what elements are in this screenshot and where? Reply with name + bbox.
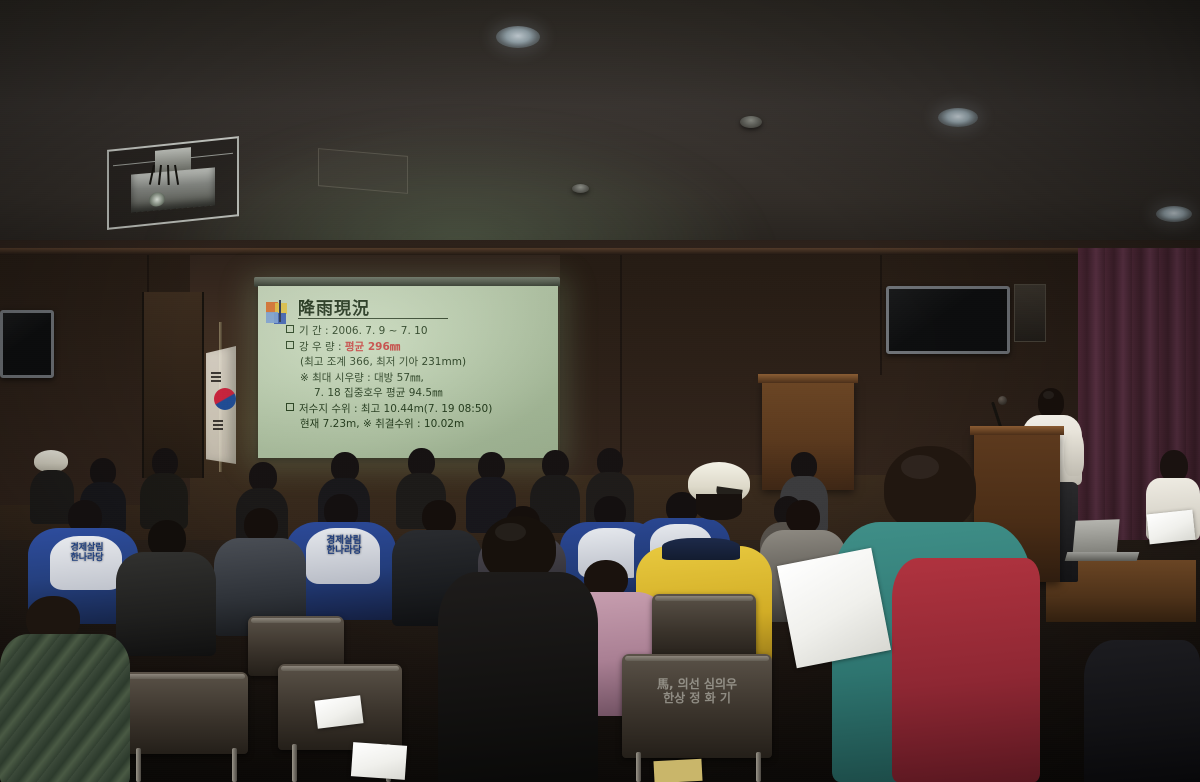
wall-trim [0,248,1200,255]
wall-seam [880,255,882,375]
slide-line: (최고 조계 366, 최저 기아 231mm) [286,355,548,371]
wall-tv-right [886,286,1010,354]
chair-rim [251,618,341,623]
projector-cables [153,165,203,187]
slide-line: 강 우 량 : 평균 296㎜ [286,340,548,356]
party-jacket-back-panel [306,528,380,584]
slide-title: 降雨現況 [298,294,370,319]
taeguk-symbol-icon [214,388,236,410]
presentation-slide: 降雨現況 기 간 : 2006. 7. 9 ~ 7. 10 강 우 량 : 평균… [258,286,558,458]
slide-line: 기 간 : 2006. 7. 9 ~ 7. 10 [286,324,548,340]
foreground-attendee-right [1084,640,1200,782]
slide-line: 현재 7.23m, ※ 취결수위 : 10.02m [286,417,548,433]
slide-line: 저수지 수위 : 최고 10.44m(7. 19 08:50) [286,402,548,418]
chair-rim [125,674,245,679]
ceiling-speaker-icon [740,116,762,128]
ceiling-speaker-icon [572,184,589,193]
audience-head [244,508,278,542]
chair-rim [655,596,753,601]
papers-on-seat [314,695,363,728]
jacket-collar [662,538,740,560]
assistant-documents [1147,510,1196,545]
assistant-right [1146,450,1200,600]
lectern-top [758,374,858,383]
slide-logo-icon [266,302,292,326]
speaker-head [1038,388,1064,418]
photo-scene: 降雨現況 기 간 : 2006. 7. 9 ~ 7. 10 강 우 량 : 평균… [0,0,1200,782]
ceiling [0,0,1200,262]
foreground-attendee-center [438,516,598,782]
white-cap-icon [34,450,68,472]
foreground-attendee-vest [832,446,1032,782]
party-jacket-back-panel [50,536,122,590]
ceiling-projector [107,143,239,223]
trigram-icon [213,420,223,422]
chair-leg [136,748,141,782]
papers-on-seat [351,742,407,780]
black-shirt [438,572,598,782]
projector-lens-icon [149,192,165,207]
audience-head [884,446,976,532]
trigram-icon [211,372,221,374]
chair [122,672,248,754]
bullet-icon [286,403,294,411]
chair [652,594,756,660]
wall-tv-left [0,310,54,378]
slide-highlight: 평균 296㎜ [345,341,400,353]
chair-leg [232,748,237,782]
laptop-keyboard [1065,552,1140,561]
wall-speaker [1014,284,1046,342]
wall-seam [620,255,622,475]
trigram-icon [213,428,223,430]
downlight-icon [496,26,540,48]
south-korean-flag [198,332,244,468]
audience-member [214,508,306,630]
projection-screen: 降雨現況 기 간 : 2006. 7. 9 ~ 7. 10 강 우 량 : 평균… [258,286,558,458]
slide-title-underline [298,318,448,319]
chair-back-text: 馬, 의선 심의우 한상 정 화 기 [630,678,764,706]
bullet-icon [286,325,294,333]
patterned-shirt [0,634,130,782]
trigram-icon [211,376,221,378]
trigram-icon [211,380,221,382]
slide-line: ※ 최대 시우량 : 대방 57㎜, [286,371,548,387]
ceiling-access-panel [318,148,408,194]
chair-with-text: 馬, 의선 심의우 한상 정 화 기 [622,654,772,758]
microphone-icon [998,396,1007,405]
audience-member [116,520,216,650]
trigram-icon [213,424,223,426]
audience-head [696,494,742,520]
downlight-icon [1156,206,1192,222]
slide-body: 기 간 : 2006. 7. 9 ~ 7. 10 강 우 량 : 평균 296㎜… [286,324,548,433]
bullet-icon [286,341,294,349]
chair-rim [281,666,399,671]
speaker-arm [1064,430,1084,476]
crimson-vest [892,558,1040,782]
chair-leg [292,744,297,782]
dark-shirt [1084,640,1200,782]
chair-leg [756,752,761,782]
chair-rim [625,656,769,661]
lectern-top-front [970,426,1064,435]
downlight-icon [938,108,978,127]
chair-leg [636,752,641,782]
slide-line: 7. 18 집중호우 평균 94.5㎜ [286,386,548,402]
audience-shirt [116,552,216,656]
audience-head [786,500,820,534]
foreground-attendee-left [0,596,130,782]
audience-member [140,448,188,526]
papers-on-seat [653,759,702,782]
held-documents [777,548,891,668]
